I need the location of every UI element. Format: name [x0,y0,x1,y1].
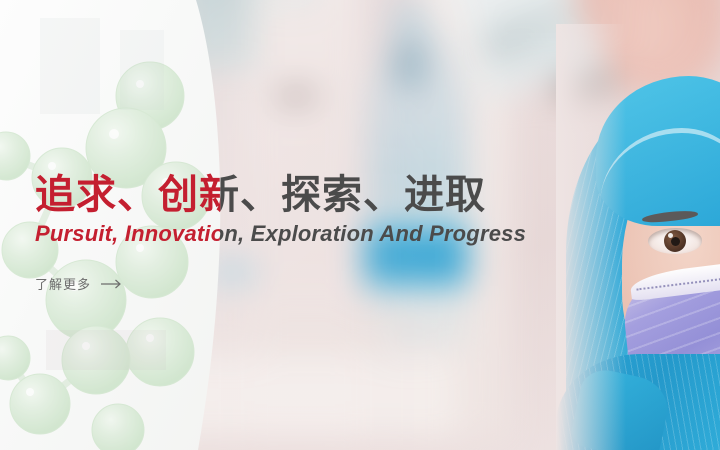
learn-more-label: 了解更多 [35,274,91,293]
arrow-right-icon [101,279,123,289]
learn-more-button[interactable]: 了解更多 [35,274,123,293]
hero-banner: 追求、创新、探索、进取 Pursuit, Innovation, Explora… [0,0,720,450]
